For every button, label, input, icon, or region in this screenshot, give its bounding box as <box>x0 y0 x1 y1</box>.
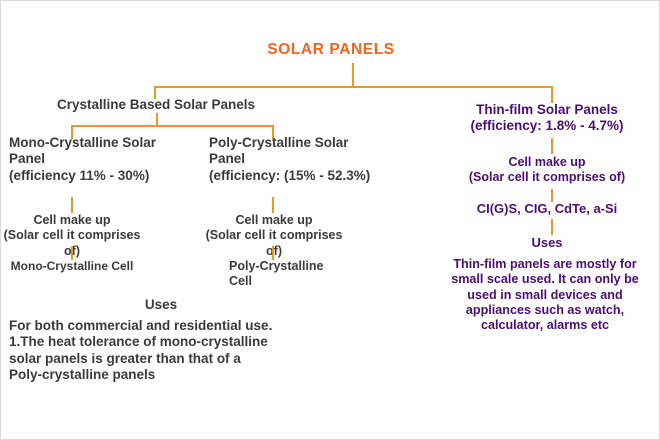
node-crystalline-based-solar-panels: Crystalline Based Solar Panels <box>21 97 291 113</box>
connector-mono-to-cellmakeup <box>71 197 73 213</box>
node-poly-crystalline-solar-panel: Poly-Crystalline Solar Panel (efficiency… <box>209 135 421 184</box>
node-poly-cell-make-up: Cell make up (Solar cell it comprises of… <box>201 213 347 259</box>
connector-poly-to-cellmakeup <box>272 197 274 213</box>
node-thin-film-cell-make-up: Cell make up (Solar cell it comprises of… <box>433 155 660 186</box>
connector-thinfilm-to-cellmakeup <box>551 138 553 154</box>
node-poly-crystalline-cell: Poly-Crystalline Cell <box>229 259 333 290</box>
node-left-uses-body: For both commercial and residential use.… <box>9 318 349 384</box>
node-mono-crystalline-solar-panel: Mono-Crystalline Solar Panel (efficiency… <box>9 135 205 184</box>
connector-root-stem <box>352 63 354 87</box>
node-mono-crystalline-cell: Mono-Crystalline Cell <box>1 259 143 274</box>
diagram-canvas: SOLAR PANELS Crystalline Based Solar Pan… <box>0 0 660 440</box>
node-thin-film-uses-heading: Uses <box>433 235 660 251</box>
connector-poly-cellmakeup-to-cell <box>272 246 274 260</box>
connector-thinfilm-materials-to-uses <box>551 219 553 235</box>
connector-root-to-thinfilm <box>551 86 553 103</box>
connector-crystalline-bar <box>71 125 274 127</box>
root-node-solar-panels: SOLAR PANELS <box>1 41 660 60</box>
node-thin-film-solar-panels: Thin-film Solar Panels (efficiency: 1.8%… <box>433 102 660 135</box>
node-left-uses-heading: Uses <box>101 297 221 313</box>
connector-mono-cellmakeup-to-cell <box>71 246 73 260</box>
connector-root-bar <box>154 86 553 88</box>
node-thin-film-uses-body: Thin-film panels are mostly for small sc… <box>429 257 660 334</box>
node-thin-film-materials: CI(G)S, CIG, CdTe, a-Si <box>433 201 660 217</box>
